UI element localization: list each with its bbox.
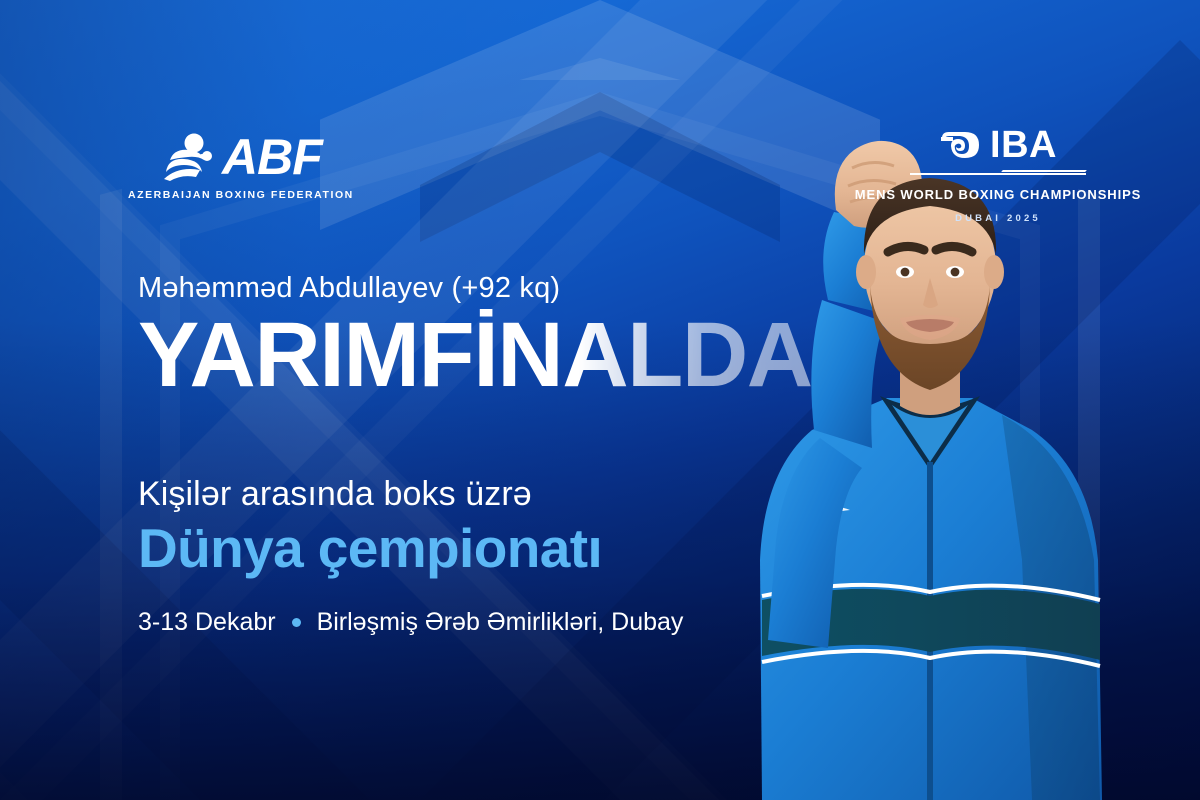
iba-subtitle: MENS WORLD BOXING CHAMPIONSHIPS bbox=[855, 186, 1141, 204]
abf-logo-row: ABF bbox=[160, 132, 322, 182]
iba-wordmark: IBA bbox=[990, 126, 1057, 164]
event-location: Birləşmiş Ərəb Əmirlikləri, Dubay bbox=[317, 608, 684, 637]
iba-logo-row: IBA bbox=[939, 126, 1057, 164]
iba-logo: IBA MENS WORLD BOXING CHAMPIONSHIPS DUBA… bbox=[908, 126, 1088, 224]
event-subtitle: Kişilər arasında boks üzrə bbox=[138, 475, 898, 514]
iba-divider bbox=[910, 173, 1086, 175]
copy-block: Məhəmməd Abdullayev (+92 kq) YARIMFİNALD… bbox=[138, 272, 898, 637]
event-meta: 3-13 Dekabr Birləşmiş Ərəb Əmirlikləri, … bbox=[138, 608, 898, 637]
abf-tagline: AZERBAIJAN BOXING FEDERATION bbox=[128, 189, 354, 201]
athlete-name: Məhəmməd Abdullayev (+92 kq) bbox=[138, 272, 898, 305]
abf-logo: ABF AZERBAIJAN BOXING FEDERATION bbox=[128, 132, 354, 201]
event-date: 3-13 Dekabr bbox=[138, 608, 276, 637]
iba-city-year: DUBAI 2025 bbox=[955, 213, 1041, 224]
poster: ABF AZERBAIJAN BOXING FEDERATION IBA MEN… bbox=[0, 0, 1200, 800]
separator-dot-icon bbox=[292, 618, 301, 627]
iba-swoosh-icon bbox=[939, 128, 983, 162]
abf-wordmark: ABF bbox=[222, 132, 322, 182]
boxer-figure-icon bbox=[160, 132, 218, 182]
headline: YARIMFİNALDA bbox=[138, 309, 898, 403]
event-title: Dünya çempionatı bbox=[138, 516, 898, 580]
